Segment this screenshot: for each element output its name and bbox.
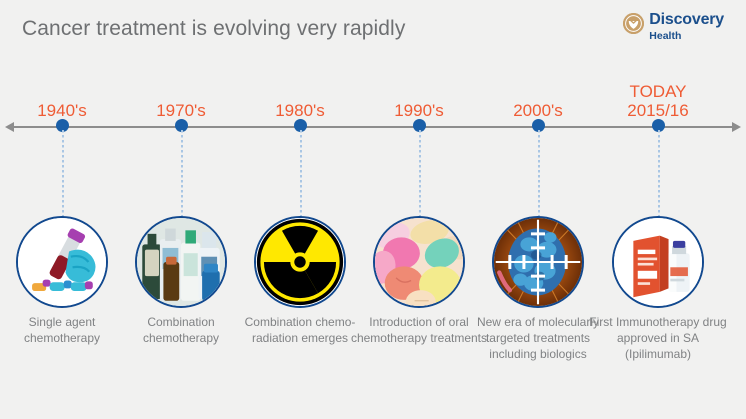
pastel-pills-icon[interactable]: [373, 216, 465, 308]
medicine-box-vial-icon[interactable]: [612, 216, 704, 308]
era-label-wrap: TODAY 2015/16: [596, 78, 720, 120]
medication-bottles-icon[interactable]: [135, 216, 227, 308]
era-label-wrap: 1990's: [357, 78, 481, 120]
timeline-milestone-2: 1970's Combination chemotherapy: [119, 0, 243, 419]
timeline-milestone-5: 2000's: [476, 0, 600, 419]
dashed-connector: [62, 130, 64, 218]
era-label: 1990's: [357, 101, 481, 120]
era-label: 1970's: [119, 101, 243, 120]
targeted-tumour-cell-icon[interactable]: [492, 216, 584, 308]
era-label-wrap: 1940's: [0, 78, 124, 120]
dashed-connector: [300, 130, 302, 218]
timeline-milestone-6: TODAY 2015/16: [596, 0, 720, 419]
era-label: TODAY 2015/16: [596, 82, 720, 120]
era-label: 1980's: [238, 101, 362, 120]
arrow-right-icon: [732, 122, 741, 132]
milestone-caption: First Immunotherapy drug approved in SA …: [588, 314, 728, 362]
radiation-trefoil-icon[interactable]: [254, 216, 346, 308]
dashed-connector: [181, 130, 183, 218]
dashed-connector: [419, 130, 421, 218]
milestone-caption: New era of molecularly targeted treatmen…: [468, 314, 608, 362]
timeline-milestone-4: 1990's Introduction of oral chemotherapy…: [357, 0, 481, 419]
era-label-wrap: 1970's: [119, 78, 243, 120]
timeline-milestone-1: 1940's Single agent chemother: [0, 0, 124, 419]
era-label: 2000's: [476, 101, 600, 120]
era-label: 1940's: [0, 101, 124, 120]
era-label-wrap: 1980's: [238, 78, 362, 120]
gloved-hand-blood-vial-icon[interactable]: [16, 216, 108, 308]
dashed-connector: [538, 130, 540, 218]
era-label-wrap: 2000's: [476, 78, 600, 120]
dashed-connector: [658, 130, 660, 218]
timeline-milestone-3: 1980's Combination chemo-radiation emerg…: [238, 0, 362, 419]
